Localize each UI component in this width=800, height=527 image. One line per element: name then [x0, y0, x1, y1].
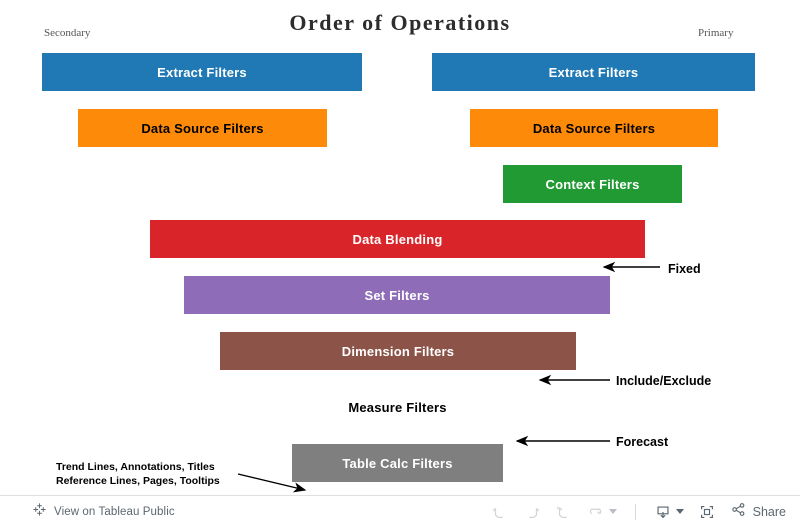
flow-bar[interactable]: Measure Filters	[256, 388, 539, 426]
tableau-toolbar: View on Tableau Public	[0, 495, 800, 527]
view-on-tableau-public-label: View on Tableau Public	[54, 506, 175, 518]
flow-bar[interactable]: Data Source Filters	[78, 109, 327, 147]
footnote-line-1: Trend Lines, Annotations, Titles	[56, 461, 215, 474]
fullscreen-button[interactable]	[692, 499, 722, 525]
view-on-tableau-public[interactable]: View on Tableau Public	[32, 502, 175, 522]
refresh-button[interactable]	[581, 499, 611, 525]
flow-bar[interactable]: Extract Filters	[42, 53, 362, 91]
flow-bar[interactable]: Data Source Filters	[470, 109, 718, 147]
share-icon	[730, 501, 747, 523]
share-button[interactable]: Share	[730, 501, 786, 523]
annotation-label: Forecast	[616, 436, 668, 449]
viz-canvas[interactable]: Order of Operations Secondary Primary Ex…	[0, 0, 800, 495]
flow-bar[interactable]: Set Filters	[184, 276, 610, 314]
flow-bar[interactable]: Table Calc Filters	[292, 444, 503, 482]
undo-button[interactable]	[485, 499, 515, 525]
footnote-line-2: Reference Lines, Pages, Tooltips	[56, 475, 220, 488]
download-button[interactable]	[648, 499, 678, 525]
pause-updates-caret-icon[interactable]	[609, 509, 617, 514]
revert-button[interactable]	[549, 499, 579, 525]
page-title: Order of Operations	[0, 10, 800, 36]
redo-button[interactable]	[517, 499, 547, 525]
flow-bar[interactable]: Context Filters	[503, 165, 682, 203]
annotation-label: Fixed	[668, 263, 701, 276]
flow-bar[interactable]: Extract Filters	[432, 53, 755, 91]
share-label: Share	[753, 505, 786, 519]
tableau-logo-icon	[32, 502, 47, 522]
flow-bar[interactable]: Dimension Filters	[220, 332, 576, 370]
flow-bar[interactable]: Data Blending	[150, 220, 645, 258]
annotation-label: Include/Exclude	[616, 375, 711, 388]
column-label-secondary: Secondary	[44, 27, 90, 39]
toolbar-separator	[635, 504, 636, 520]
download-caret-icon[interactable]	[676, 509, 684, 514]
column-label-primary: Primary	[698, 27, 733, 39]
